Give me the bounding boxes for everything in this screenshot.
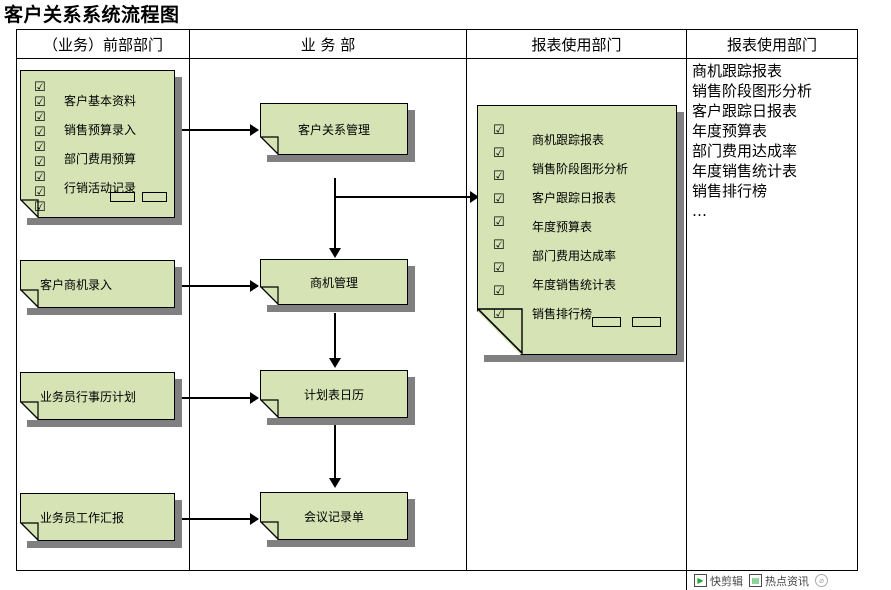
arrowhead-oppentry-to-oppmgmt [250, 280, 259, 292]
arrowhead-calendar-to-meeting [329, 478, 341, 488]
checkbox-icon: ☑ [493, 188, 505, 211]
play-icon: ▶ [694, 574, 707, 587]
report-line: 客户跟踪日报表 [532, 189, 628, 206]
list-item: 部门费用达成率 [692, 141, 812, 161]
arrowhead-oppmgmt-to-calendar [329, 358, 341, 368]
arrowhead-form-to-crm [250, 124, 259, 136]
column-separator-2 [466, 29, 467, 571]
document-report-list[interactable]: ☑ ☑ ☑ ☑ ☑ ☑ ☑ ☑ ☑ 商机跟踪报表 销售阶段图形分析 客户跟踪日报… [477, 105, 677, 355]
box-salesperson-calendar-plan[interactable]: 业务员行事历计划 [20, 372, 175, 420]
checkbox-icon: ☑ [34, 155, 46, 170]
report-line: 年度预算表 [532, 218, 628, 235]
connector-col2-to-reportdoc [334, 196, 474, 198]
report-button[interactable] [632, 317, 661, 327]
page-fold-corner [260, 137, 278, 155]
checkbox-icon: ☑ [34, 185, 46, 200]
taskbar: ▶ 快剪辑 ▤ 热点资讯 ⌀ [694, 571, 874, 590]
box-meeting-minutes[interactable]: 会议记录单 [260, 492, 408, 540]
form-line: 部门费用预算 [64, 150, 136, 167]
report-line: 商机跟踪报表 [532, 131, 628, 148]
form-line-list: 客户基本资料 销售预算录入 部门费用预算 行销活动记录 [64, 92, 136, 196]
checkbox-icon: ☑ [493, 119, 505, 142]
page-fold-corner [260, 400, 278, 418]
box-crm-management[interactable]: 客户关系管理 [260, 103, 408, 155]
box-opportunity-management[interactable]: 商机管理 [260, 259, 408, 305]
box-label: 业务员工作汇报 [20, 493, 175, 541]
report-line: 年度销售统计表 [532, 276, 628, 293]
connector-calplan-to-calendar [174, 397, 252, 399]
taskbar-item-quickedit[interactable]: ▶ 快剪辑 [694, 573, 743, 589]
page-fold-corner [20, 402, 38, 420]
list-item: 销售阶段图形分析 [692, 81, 812, 101]
page-fold-corner [260, 522, 278, 540]
arrowhead-calplan-to-calendar [250, 392, 259, 404]
page-fold-corner [20, 200, 38, 218]
checkbox-icon: ☑ [34, 80, 46, 95]
box-label: 客户商机录入 [20, 260, 175, 308]
column-header-3: 报表使用部门 [467, 29, 686, 59]
form-line: 客户基本资料 [64, 92, 136, 109]
connector-calendar-to-meeting [334, 425, 336, 483]
column-header-2: 业 务 部 [190, 29, 466, 59]
report-button-group[interactable] [592, 317, 661, 327]
connector-report-to-meeting [174, 518, 252, 520]
checkbox-icon: ☑ [493, 280, 505, 303]
news-icon: ▤ [749, 574, 762, 587]
flowchart-page: 客户关系系统流程图 （业务）前部部门 业 务 部 报表使用部门 报表使用部门 ☑… [0, 0, 891, 590]
document-customer-form[interactable]: ☑ ☑ ☑ ☑ ☑ ☑ ☑ ☑ ☑ 客户基本资料 销售预算录入 部门费用预算 行… [20, 70, 175, 218]
connector-crm-to-oppmgmt [334, 178, 336, 252]
box-label: 会议记录单 [260, 492, 408, 540]
connector-form-to-crm [174, 129, 252, 131]
checkbox-column: ☑ ☑ ☑ ☑ ☑ ☑ ☑ ☑ ☑ [34, 80, 46, 215]
report-line: 销售阶段图形分析 [532, 160, 628, 177]
box-label: 商机管理 [260, 259, 408, 305]
list-item: 客户跟踪日报表 [692, 101, 812, 121]
list-item: 商机跟踪报表 [692, 61, 812, 81]
taskbar-item-news[interactable]: ▤ 热点资讯 [749, 573, 809, 589]
taskbar-item-label: 热点资讯 [765, 573, 809, 589]
page-fold-corner [260, 287, 278, 305]
report-line: 部门费用达成率 [532, 247, 628, 264]
arrowhead-report-to-meeting [250, 513, 259, 525]
form-button[interactable] [142, 192, 167, 202]
taskbar-item-label: 快剪辑 [710, 573, 743, 589]
checkbox-icon: ☑ [493, 142, 505, 165]
checkbox-icon: ☑ [493, 165, 505, 188]
circle-icon[interactable]: ⌀ [815, 574, 828, 587]
report-usage-text-list: 商机跟踪报表 销售阶段图形分析 客户跟踪日报表 年度预算表 部门费用达成率 年度… [692, 61, 812, 221]
column-separator-1 [189, 29, 190, 571]
report-line-list: 商机跟踪报表 销售阶段图形分析 客户跟踪日报表 年度预算表 部门费用达成率 年度… [532, 131, 628, 322]
checkbox-icon: ☑ [34, 140, 46, 155]
connector-oppentry-to-oppmgmt [174, 285, 252, 287]
form-button-group[interactable] [110, 192, 167, 202]
checkbox-icon: ☑ [34, 110, 46, 125]
arrowhead-crm-to-oppmgmt [329, 248, 341, 258]
checkbox-icon: ☑ [34, 170, 46, 185]
list-item: … [692, 201, 812, 221]
box-label: 客户关系管理 [260, 103, 408, 155]
column-separator-3 [686, 29, 687, 571]
checkbox-icon: ☑ [493, 257, 505, 280]
list-item: 销售排行榜 [692, 181, 812, 201]
list-item: 年度预算表 [692, 121, 812, 141]
checkbox-column: ☑ ☑ ☑ ☑ ☑ ☑ ☑ ☑ ☑ [493, 119, 505, 326]
box-label: 计划表日历 [260, 370, 408, 418]
connector-oppmgmt-to-calendar [334, 313, 336, 363]
checkbox-icon: ☑ [34, 95, 46, 110]
page-fold-corner [477, 311, 521, 355]
checkbox-icon: ☑ [34, 125, 46, 140]
column-header-4: 报表使用部门 [687, 29, 857, 59]
column-header-1: （业务）前部部门 [17, 29, 189, 59]
list-item: 年度销售统计表 [692, 161, 812, 181]
checkbox-icon: ☑ [493, 234, 505, 257]
form-button[interactable] [110, 192, 135, 202]
box-label: 业务员行事历计划 [20, 372, 175, 420]
box-customer-opportunity-entry[interactable]: 客户商机录入 [20, 260, 175, 308]
checkbox-icon: ☑ [493, 211, 505, 234]
form-line: 销售预算录入 [64, 121, 136, 138]
page-title: 客户关系系统流程图 [4, 0, 180, 27]
page-fold-corner [20, 523, 38, 541]
page-fold-corner [20, 290, 38, 308]
box-salesperson-work-report[interactable]: 业务员工作汇报 [20, 493, 175, 541]
taskbar-separator [686, 566, 687, 590]
report-button[interactable] [592, 317, 621, 327]
box-plan-calendar[interactable]: 计划表日历 [260, 370, 408, 418]
